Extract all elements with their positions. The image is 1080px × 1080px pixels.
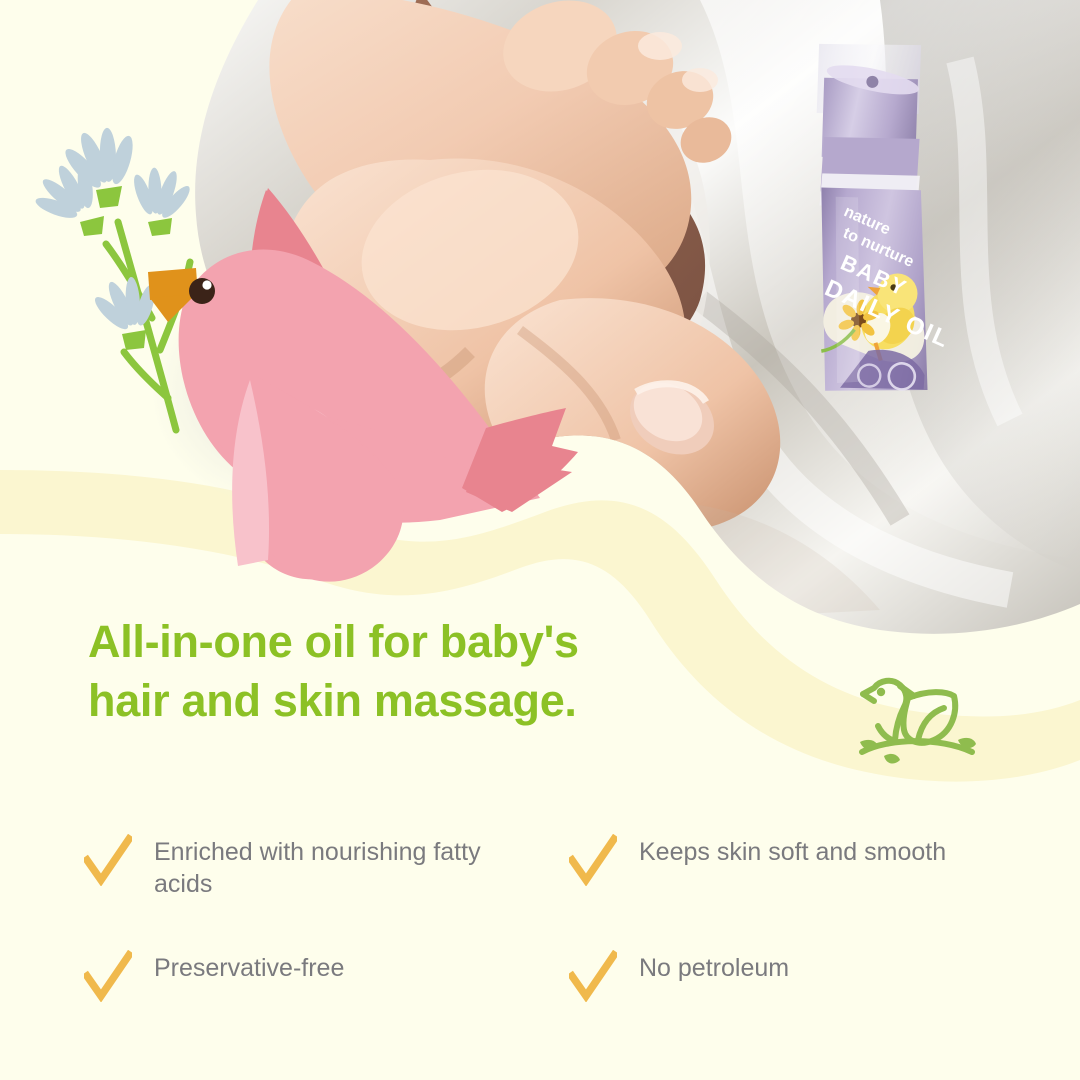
check-icon bbox=[84, 950, 132, 1002]
check-icon bbox=[84, 834, 132, 886]
banner-canvas: nature to nurture BABY DAILY OIL bbox=[0, 0, 1080, 1080]
page-title: All-in-one oil for baby's hair and skin … bbox=[88, 612, 708, 731]
feature-label: Enriched with nourishing fatty acids bbox=[154, 832, 484, 900]
feature-list: Enriched with nourishing fatty acids Kee… bbox=[84, 832, 1024, 1002]
feature-item: Enriched with nourishing fatty acids bbox=[84, 832, 569, 900]
headline-line-2: hair and skin massage. bbox=[88, 671, 708, 730]
feature-item: No petroleum bbox=[569, 948, 1024, 1002]
check-icon bbox=[569, 950, 617, 1002]
check-icon bbox=[569, 834, 617, 886]
feature-label: Preservative-free bbox=[154, 948, 344, 984]
brand-logo bbox=[848, 660, 988, 770]
feature-label: No petroleum bbox=[639, 948, 789, 984]
headline-line-1: All-in-one oil for baby's bbox=[88, 612, 708, 671]
feature-label: Keeps skin soft and smooth bbox=[639, 832, 946, 868]
feature-item: Preservative-free bbox=[84, 948, 569, 1002]
feature-item: Keeps skin soft and smooth bbox=[569, 832, 1024, 900]
